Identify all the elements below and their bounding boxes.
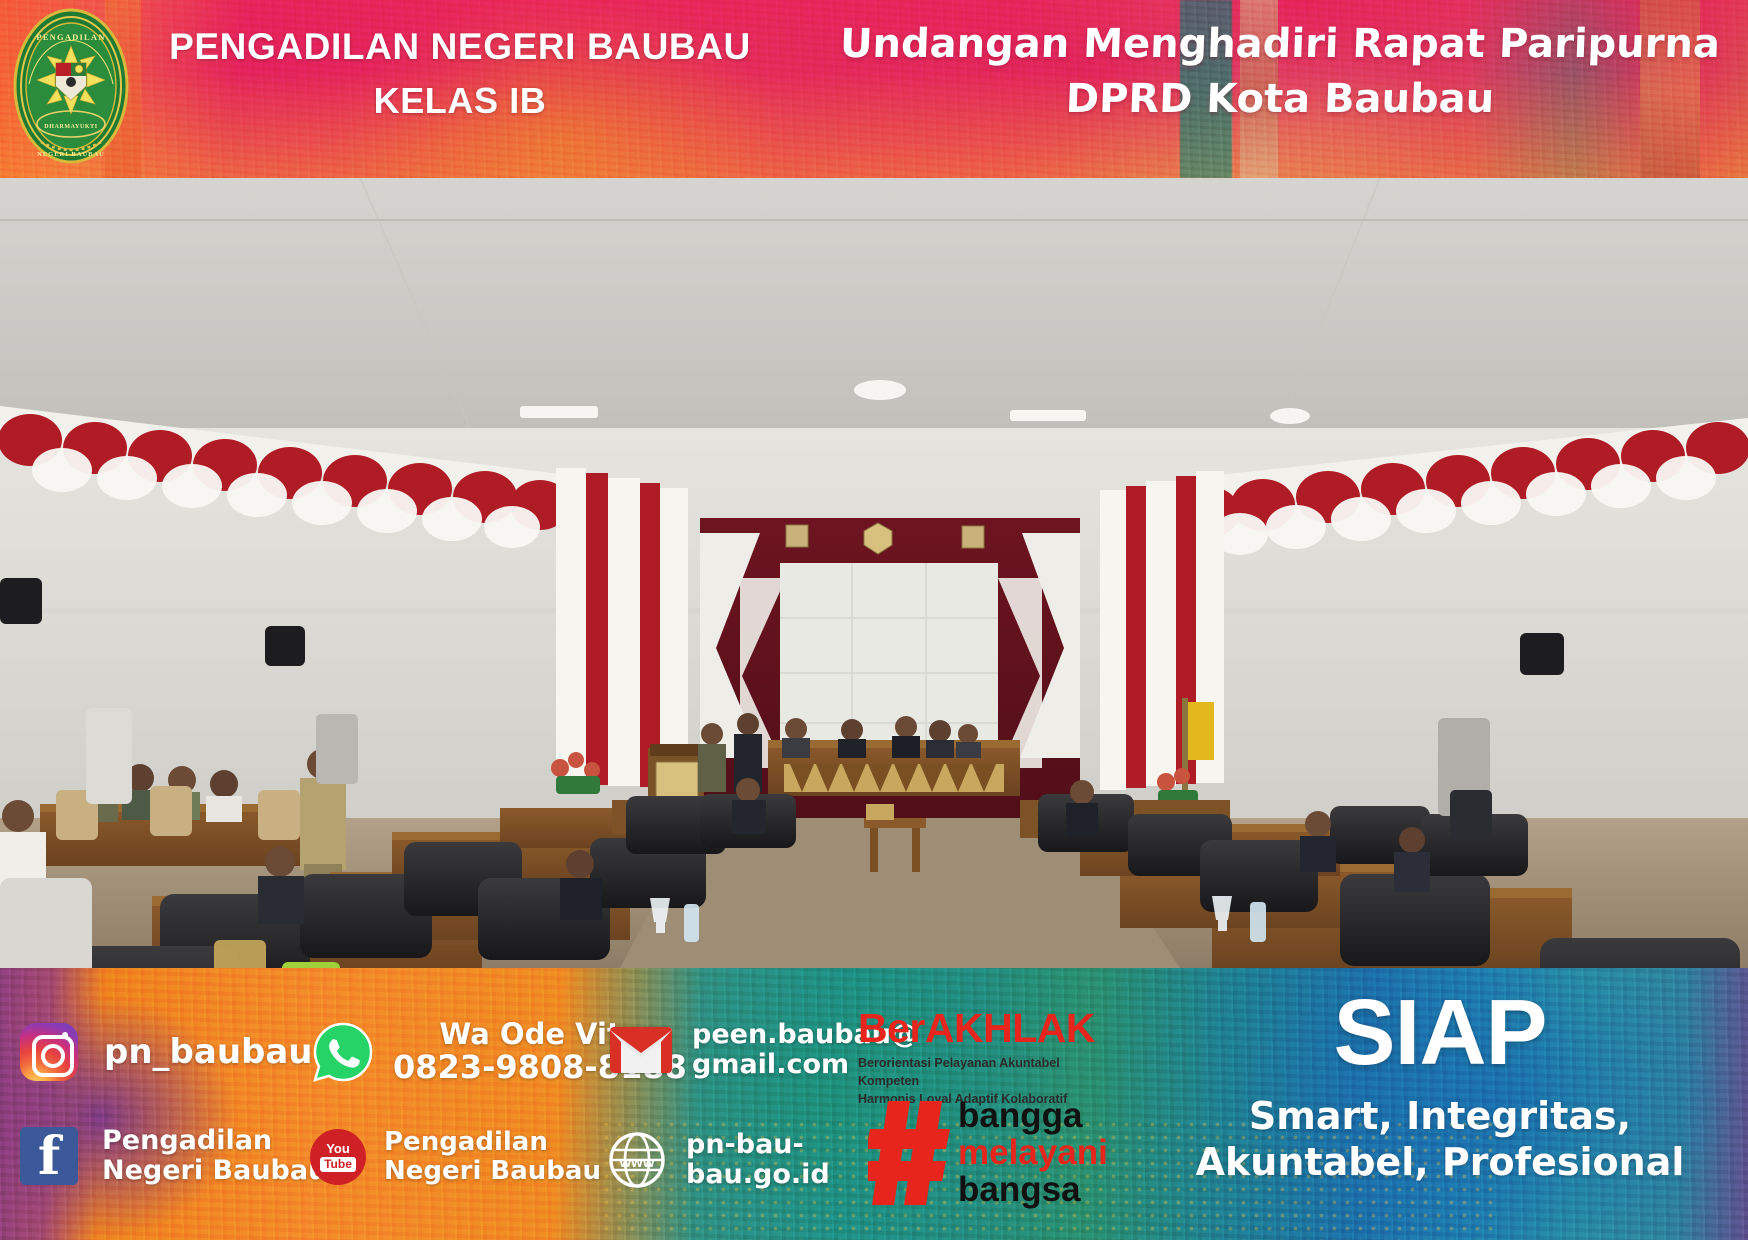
siap-tagline-line-1: Smart, Integritas, (1140, 1093, 1740, 1139)
website-url: pn-bau-bau.go.id (686, 1130, 860, 1190)
berakhlak-title: BerAKHLAK (858, 1008, 1118, 1049)
bangga-words: bangga melayani bangsa (958, 1098, 1108, 1207)
announcement-line-2: DPRD Kota Baubau (829, 75, 1731, 124)
bangga-word-2: melayani (958, 1135, 1108, 1170)
youtube-icon: YouTube (310, 1129, 366, 1185)
hashtag-icon (868, 1101, 952, 1205)
contact-website[interactable]: www pn-bau-bau.go.id (608, 1130, 860, 1190)
event-photo (0, 178, 1748, 968)
berakhlak-logo: BerAKHLAK Berorientasi Pelayanan Akuntab… (858, 1008, 1118, 1108)
court-seal-icon: PENGADILAN NEGERI BAUBAU (11, 6, 131, 166)
youtube-line-2: Negeri Baubau (384, 1157, 601, 1186)
contact-youtube[interactable]: YouTube Pengadilan Negeri Baubau (310, 1128, 601, 1186)
facebook-line-2: Negeri Baubau (102, 1156, 327, 1186)
berakhlak-values-line-1: Berorientasi Pelayanan Akuntabel Kompete… (858, 1054, 1118, 1090)
whatsapp-icon (313, 1022, 373, 1082)
contact-instagram[interactable]: pn_baubau (20, 1023, 313, 1081)
youtube-line-1: Pengadilan (384, 1128, 601, 1157)
institution-name: PENGADILAN NEGERI BAUBAU (150, 26, 770, 68)
svg-text:PENGADILAN: PENGADILAN (36, 32, 105, 42)
svg-text:DHARMAYUKTI: DHARMAYUKTI (44, 124, 97, 130)
facebook-line-1: Pengadilan (102, 1126, 327, 1156)
siap-tagline-line-2: Akuntabel, Profesional (1140, 1139, 1740, 1185)
instagram-handle: pn_baubau (104, 1033, 313, 1071)
gmail-icon (610, 1027, 672, 1073)
announcement-title-block: Undangan Menghadiri Rapat Paripurna DPRD… (830, 20, 1730, 124)
poster-root: PENGADILAN NEGERI BAUBAU (0, 0, 1748, 1240)
contact-facebook[interactable]: f Pengadilan Negeri Baubau (20, 1126, 327, 1186)
siap-acronym: SIAP (1140, 986, 1740, 1079)
globe-www-icon: www (608, 1131, 666, 1189)
institution-class: KELAS IB (150, 80, 770, 122)
facebook-text: Pengadilan Negeri Baubau (102, 1126, 327, 1186)
svg-text:www: www (618, 1154, 654, 1171)
announcement-line-1: Undangan Menghadiri Rapat Paripurna (829, 20, 1731, 69)
bangga-word-1: bangga (958, 1098, 1108, 1133)
youtube-text: Pengadilan Negeri Baubau (384, 1128, 601, 1186)
bangga-word-3: bangsa (958, 1172, 1108, 1207)
facebook-icon: f (20, 1127, 78, 1185)
institution-title-block: PENGADILAN NEGERI BAUBAU KELAS IB (150, 26, 770, 122)
instagram-icon (20, 1023, 78, 1081)
svg-text:NEGERI BAUBAU: NEGERI BAUBAU (37, 151, 105, 158)
bangga-melayani-bangsa-logo: bangga melayani bangsa (868, 1098, 1108, 1207)
contact-list: pn_baubau Wa Ode Vita 0823-9808-8188 (0, 968, 860, 1240)
siap-slogan-block: SIAP Smart, Integritas, Akuntabel, Profe… (1140, 986, 1740, 1186)
